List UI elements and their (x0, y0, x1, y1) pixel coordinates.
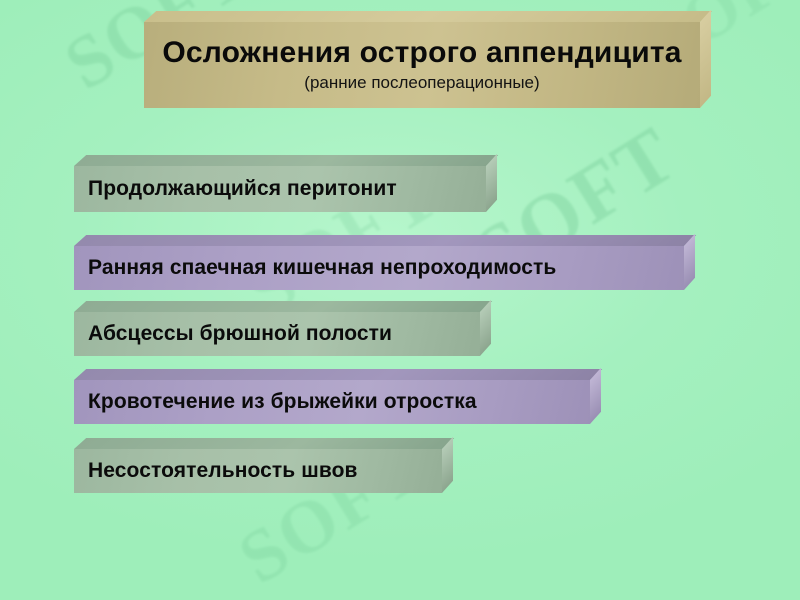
plaque-right-face (590, 368, 601, 424)
plaque-right-face (700, 10, 711, 108)
plaque-top-face (74, 301, 492, 312)
list-item-label: Кровотечение из брыжейки отростка (74, 390, 477, 414)
list-item-label: Продолжающийся перитонит (74, 177, 397, 201)
plaque-right-face (480, 300, 491, 356)
list-item-label: Абсцессы брюшной полости (74, 322, 392, 346)
list-item: Абсцессы брюшной полости (74, 312, 480, 356)
plaque-right-face (442, 437, 453, 493)
list-item: Несостоятельность швов (74, 449, 442, 493)
page-subtitle: (ранние послеоперационные) (304, 73, 539, 93)
plaque-top-face (74, 438, 454, 449)
plaque-top-face (74, 235, 696, 246)
page-title: Осложнения острого аппендицита (162, 37, 681, 69)
plaque-top-face (144, 11, 712, 22)
list-item: Ранняя спаечная кишечная непроходимость (74, 246, 684, 290)
slide-canvas: SOFT SOFT SOFT SOFT SOFT Осложнения остр… (0, 0, 800, 600)
list-item: Кровотечение из брыжейки отростка (74, 380, 590, 424)
slide-title-plaque: Осложнения острого аппендицита (ранние п… (144, 22, 700, 108)
plaque-top-face (74, 155, 498, 166)
list-item-label: Несостоятельность швов (74, 459, 358, 483)
plaque-right-face (684, 234, 695, 290)
list-item-label: Ранняя спаечная кишечная непроходимость (74, 256, 556, 280)
plaque-right-face (486, 154, 497, 212)
list-item: Продолжающийся перитонит (74, 166, 486, 212)
plaque-top-face (74, 369, 602, 380)
